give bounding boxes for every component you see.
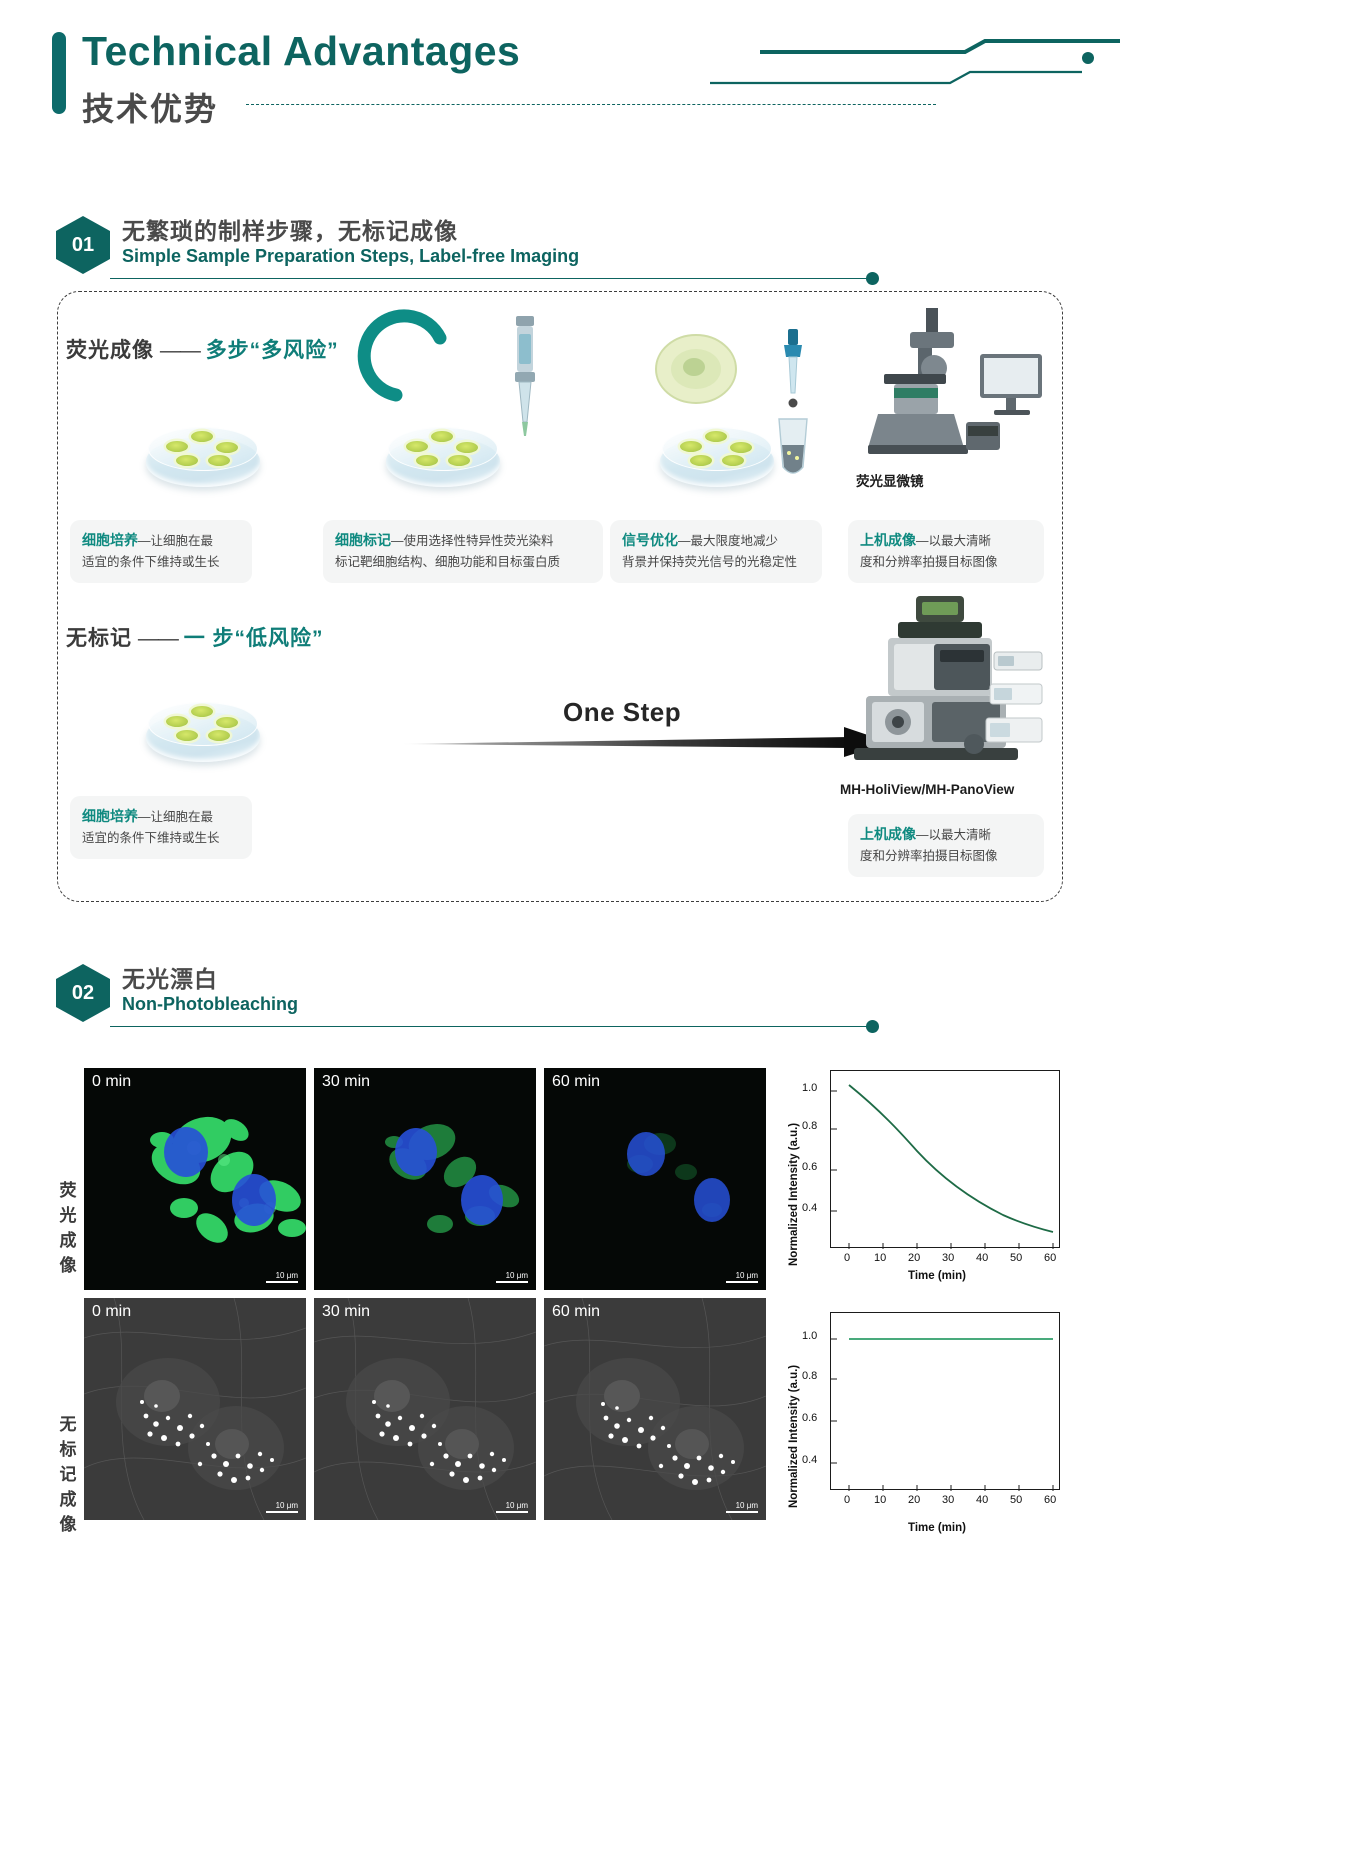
chart-1-xtick-0: 0 <box>844 1252 850 1264</box>
chip-line2: 适宜的条件下维持或生长 <box>82 827 240 849</box>
workflow-step-chip: 细胞培养—让细胞在最 适宜的条件下维持或生长 <box>70 796 252 859</box>
chip-line2: 度和分辨率拍摄目标图像 <box>860 551 1032 573</box>
fluorescence-microscope-caption: 荧光显微镜 <box>856 470 924 490</box>
fluorescence-row-title-highlight: 多步“多风险” <box>206 339 339 362</box>
labelfree-row-title: 无标记 —— 一 步“低风险” <box>66 622 324 652</box>
row-label-labelfree: 无标记成像 <box>50 1412 86 1537</box>
header-step-decoration <box>700 40 1120 90</box>
one-step-arrow-group: One Step <box>398 697 898 767</box>
chip-dash: — <box>678 534 691 548</box>
chart-1-xlabel: Time (min) <box>908 1270 966 1282</box>
section-02-title-en: Non-Photobleaching <box>122 994 298 1015</box>
row-label-fluorescence: 荧光成像 <box>50 1178 86 1278</box>
chip-dash: — <box>916 534 929 548</box>
chip-keyword: 细胞培养 <box>82 808 138 824</box>
workflow-step-chip: 细胞标记—使用选择性特异性荧光染料 标记靶细胞结构、细胞功能和目标蛋白质 <box>323 520 603 583</box>
slide-page: Technical Advantages 技术优势 01 无繁琐的制样步骤，无标… <box>0 0 1354 1851</box>
labelfree-row-title-dash: —— <box>138 627 178 650</box>
petri-dish-graphic <box>146 702 260 768</box>
chart-2-ytick-0.8: 0.8 <box>802 1370 817 1382</box>
fluorescence-row-title-dash: —— <box>160 339 200 362</box>
header-accent-bar <box>52 32 66 114</box>
labelfree-image-60min: 60 min <box>544 1298 766 1520</box>
chip-line1: 使用选择性特异性荧光染料 <box>404 534 554 548</box>
chart-1-xtick-10: 10 <box>874 1252 886 1264</box>
chip-line1: 以最大清晰 <box>929 534 992 548</box>
one-step-label: One Step <box>563 697 681 728</box>
chip-dash: — <box>138 534 151 548</box>
section-01-number: 01 <box>56 216 110 274</box>
holiview-instrument-illustration <box>828 592 1050 782</box>
chip-dash: — <box>916 828 929 842</box>
page-header: Technical Advantages 技术优势 <box>0 0 1354 150</box>
chart-2-xtick-10: 10 <box>874 1494 886 1506</box>
workflow-step-chip: 上机成像—以最大清晰 度和分辨率拍摄目标图像 <box>848 814 1044 877</box>
header-dot-decoration <box>1082 52 1094 64</box>
labelfree-row-title-highlight: 一 步“低风险” <box>184 627 324 650</box>
chip-line1: 最大限度地减少 <box>691 534 779 548</box>
chart-2-xlabel: Time (min) <box>908 1522 966 1534</box>
chart-2-xtick-60: 60 <box>1044 1494 1056 1506</box>
chart-1-xtick-30: 30 <box>942 1252 954 1264</box>
chart-2-ytick-0.6: 0.6 <box>802 1412 817 1424</box>
fluorescence-microscope-illustration <box>848 302 1048 477</box>
scale-bar-label: 10 μm <box>496 1271 528 1284</box>
chart-1-ytick-1.0: 1.0 <box>802 1082 817 1094</box>
scale-bar-label: 10 μm <box>726 1501 758 1514</box>
petri-dish-graphic <box>386 427 500 493</box>
chip-keyword: 细胞培养 <box>82 532 138 548</box>
fluorescence-image-30min: 30 min 10 μm <box>314 1068 536 1290</box>
chart-2-plot-area <box>830 1312 1060 1490</box>
chart-2-ylabel: Normalized Intensity (a.u.) <box>788 1365 800 1508</box>
chip-line2: 标记靶细胞结构、细胞功能和目标蛋白质 <box>335 551 591 573</box>
chart-1-xtick-50: 50 <box>1010 1252 1022 1264</box>
petri-dish-graphic <box>660 427 774 493</box>
chip-keyword: 细胞标记 <box>335 532 391 548</box>
scale-bar-label: 10 μm <box>496 1501 528 1514</box>
time-label: 60 min <box>552 1073 600 1091</box>
chart-1-ylabel: Normalized Intensity (a.u.) <box>788 1123 800 1266</box>
workflow-step-chip: 上机成像—以最大清晰 度和分辨率拍摄目标图像 <box>848 520 1044 583</box>
labelfree-image-0min: 0 min <box>84 1298 306 1520</box>
section-02-number: 02 <box>56 964 110 1022</box>
time-label: 60 min <box>552 1303 600 1321</box>
fluorescence-image-60min: 60 min 10 μm <box>544 1068 766 1290</box>
section-01-title-cn: 无繁琐的制样步骤，无标记成像 <box>122 212 458 246</box>
chip-line1: 让细胞在最 <box>151 534 214 548</box>
chart-1-xtick-20: 20 <box>908 1252 920 1264</box>
section-01-rule-dot <box>866 272 879 285</box>
time-label: 30 min <box>322 1073 370 1091</box>
chart-2-ytick-0.4: 0.4 <box>802 1454 817 1466</box>
chart-labelfree-stability: Normalized Intensity (a.u.) <box>776 1310 1068 1542</box>
time-label: 0 min <box>92 1303 131 1321</box>
fluorescence-row-title-prefix: 荧光成像 <box>66 339 154 362</box>
chart-1-xtick-60: 60 <box>1044 1252 1056 1264</box>
section-01-heading: 01 无繁琐的制样步骤，无标记成像 Simple Sample Preparat… <box>0 212 1354 292</box>
page-title-cn: 技术优势 <box>82 84 218 130</box>
chart-2-ytick-1.0: 1.0 <box>802 1330 817 1342</box>
section-02-title-cn: 无光漂白 <box>122 960 218 994</box>
chip-line2: 背景并保持荧光信号的光稳定性 <box>622 551 810 573</box>
chip-line2: 度和分辨率拍摄目标图像 <box>860 845 1032 867</box>
section-02-rule <box>110 1026 870 1027</box>
page-title-en: Technical Advantages <box>82 28 520 75</box>
chart-2-xtick-50: 50 <box>1010 1494 1022 1506</box>
chip-line2: 适宜的条件下维持或生长 <box>82 551 240 573</box>
chip-dash: — <box>391 534 404 548</box>
holiview-instrument-caption: MH-HoliView/MH-PanoView <box>840 782 1014 797</box>
section-02-rule-dot <box>866 1020 879 1033</box>
workflow-panel: 荧光成像 —— 多步“多风险” <box>57 291 1063 902</box>
chart-1-plot-area <box>830 1070 1060 1248</box>
fluorescence-row-title: 荧光成像 —— 多步“多风险” <box>66 334 339 364</box>
workflow-step-chip: 信号优化—最大限度地减少 背景并保持荧光信号的光稳定性 <box>610 520 822 583</box>
fluorescence-image-0min: 0 min <box>84 1068 306 1290</box>
section-02-heading: 02 无光漂白 Non-Photobleaching <box>0 960 1354 1040</box>
chart-fluorescence-decay: Normalized Intensity (a.u.) <box>776 1068 1068 1290</box>
section-01-rule <box>110 278 870 279</box>
scale-bar-label: 10 μm <box>726 1271 758 1284</box>
section-01-title-en: Simple Sample Preparation Steps, Label-f… <box>122 246 579 267</box>
chart-1-ytick-0.6: 0.6 <box>802 1161 817 1173</box>
chart-2-xtick-20: 20 <box>908 1494 920 1506</box>
chip-keyword: 上机成像 <box>860 826 916 842</box>
chip-keyword: 上机成像 <box>860 532 916 548</box>
petri-dish-graphic <box>146 427 260 493</box>
chip-line1: 让细胞在最 <box>151 810 214 824</box>
chip-line1: 以最大清晰 <box>929 828 992 842</box>
photobleaching-comparison: 荧光成像 无标记成像 0 min <box>0 1060 1354 1530</box>
chart-2-xtick-30: 30 <box>942 1494 954 1506</box>
labelfree-row-title-prefix: 无标记 <box>66 627 132 650</box>
workflow-step-chip: 细胞培养—让细胞在最 适宜的条件下维持或生长 <box>70 520 252 583</box>
chip-dash: — <box>138 810 151 824</box>
time-label: 30 min <box>322 1303 370 1321</box>
scale-bar-label: 10 μm <box>266 1271 298 1284</box>
chart-2-xtick-0: 0 <box>844 1494 850 1506</box>
chart-1-ytick-0.8: 0.8 <box>802 1120 817 1132</box>
chart-1-xtick-40: 40 <box>976 1252 988 1264</box>
chart-2-xtick-40: 40 <box>976 1494 988 1506</box>
time-label: 0 min <box>92 1073 131 1091</box>
chart-1-ytick-0.4: 0.4 <box>802 1202 817 1214</box>
chip-keyword: 信号优化 <box>622 532 678 548</box>
labelfree-image-30min: 30 min <box>314 1298 536 1520</box>
scale-bar-label: 10 μm <box>266 1501 298 1514</box>
header-dashed-rule <box>246 104 936 105</box>
